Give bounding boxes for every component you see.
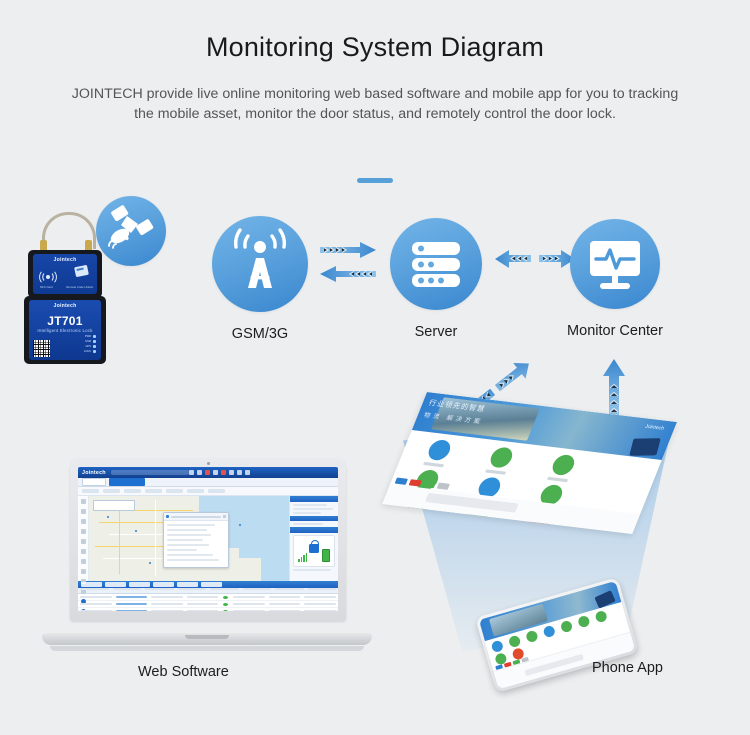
led-dot (93, 340, 96, 343)
node-label-monitor: Monitor Center (505, 323, 725, 339)
app-icon-track[interactable] (487, 446, 515, 468)
laptop-notch (185, 635, 229, 639)
table-row[interactable] (78, 594, 338, 601)
language-icon[interactable] (197, 470, 202, 475)
satellite-circle (96, 196, 166, 266)
arrow-left (320, 266, 376, 282)
led-dot (93, 335, 96, 338)
toolbar-item[interactable] (82, 489, 99, 493)
laptop-screen[interactable]: Jointech (78, 467, 338, 611)
toolbar-item[interactable] (187, 489, 204, 493)
device-upper-body: Jointech NFC Card Remote Code Unlock (28, 250, 102, 298)
device-brand-bottom: Jointech (29, 303, 101, 309)
nfc-wave-icon (39, 271, 57, 283)
device-info-panel[interactable] (289, 496, 338, 581)
table-row[interactable] (78, 608, 338, 611)
help-icon[interactable] (237, 470, 242, 475)
panel-header-status (290, 527, 338, 533)
node-monitor-center: Monitor Center (570, 219, 660, 309)
table-tab-idling[interactable] (129, 582, 150, 587)
laptop-base (42, 633, 372, 645)
toolbar-item[interactable] (103, 489, 120, 493)
server-circle (390, 218, 482, 310)
map-search-box[interactable] (93, 500, 135, 511)
node-server: Server (390, 218, 482, 310)
connector-server-to-monitor (495, 248, 575, 279)
gear-icon[interactable] (229, 470, 234, 475)
webapp-tab-bar[interactable] (78, 478, 338, 487)
device-model-subtitle: Intelligent Electronic Lock (29, 328, 101, 333)
popup-header (164, 513, 228, 521)
gsm-circle (212, 216, 308, 312)
led-label: GPS (82, 345, 91, 348)
alert-icon[interactable] (205, 470, 210, 475)
arrow-right (320, 242, 376, 258)
app-tab-all[interactable] (395, 478, 408, 485)
caption-phone-app: Phone App (592, 660, 663, 676)
tab-home[interactable] (82, 478, 106, 486)
table-tab-bar[interactable] (78, 581, 338, 588)
page-subtitle: JOINTECH provide live online monitoring … (62, 84, 688, 124)
qr-code-icon (33, 340, 50, 357)
table-tab-offline[interactable] (201, 582, 222, 587)
lock-status-box (293, 535, 335, 567)
banner-device-image (629, 438, 661, 456)
caption-web-software: Web Software (138, 664, 229, 680)
tab-realtime-tracking[interactable] (109, 478, 145, 486)
phone-app-icon[interactable] (508, 635, 522, 649)
app-grid-item[interactable] (407, 437, 469, 469)
message-icon[interactable] (213, 470, 218, 475)
arrow-left (495, 250, 531, 268)
app-tab-offline[interactable] (437, 483, 450, 490)
node-satellite (96, 196, 166, 266)
banner-brand: Jointech (644, 424, 665, 432)
padlock-icon (309, 544, 319, 553)
page-title: Monitoring System Diagram (0, 32, 750, 63)
webapp-body (78, 496, 338, 581)
cell-tower-icon (212, 216, 308, 312)
monitor-circle (570, 219, 660, 309)
webapp-toolbar[interactable] (78, 487, 338, 496)
sidebar-item-search[interactable] (81, 539, 86, 544)
sidebar-item-report[interactable] (81, 509, 86, 514)
nfc-label: NFC Card (40, 285, 53, 289)
logout-icon[interactable] (245, 470, 250, 475)
app-icon-monitor[interactable] (425, 439, 453, 461)
sidebar-item-home[interactable] (81, 499, 86, 504)
signal-bars-icon (298, 553, 307, 562)
connector-gsm-to-server (320, 238, 386, 297)
webcam-icon (207, 462, 210, 465)
led-label: LOCK (82, 350, 91, 353)
accent-divider (357, 178, 393, 183)
sidebar-item-settings[interactable] (81, 519, 86, 524)
app-tab-online[interactable] (423, 481, 436, 488)
satellite-icon (96, 196, 166, 266)
phone-app-icon[interactable] (525, 630, 539, 644)
led-label: GSM (82, 340, 91, 343)
user-icon[interactable] (189, 470, 194, 475)
panel-header-vehicle-info (290, 496, 338, 502)
device-upper-face: Jointech NFC Card Remote Code Unlock (33, 254, 97, 294)
phone-app-block: 行业领先的智慧 物流 解决方案 Jointech (395, 398, 695, 688)
app-tab-alarm[interactable] (409, 479, 422, 486)
notification-icon[interactable] (221, 470, 226, 475)
diagram-canvas: Monitoring System Diagram JOINTECH provi… (0, 0, 750, 735)
device-lower-face: Jointech JT701 Intelligent Electronic Lo… (29, 300, 101, 360)
map-info-popup[interactable] (163, 512, 229, 568)
led-dot (93, 345, 96, 348)
table-tab-running[interactable] (105, 582, 126, 587)
toolbar-item[interactable] (124, 489, 141, 493)
table-row[interactable] (78, 601, 338, 608)
webapp-header-icons[interactable] (189, 470, 250, 475)
battery-icon (322, 549, 330, 562)
map-view[interactable] (89, 496, 289, 581)
device-brand-top: Jointech (33, 257, 97, 263)
sidebar-item-alarm[interactable] (81, 529, 86, 534)
webapp-header: Jointech (78, 467, 338, 478)
app-grid-item[interactable] (531, 452, 593, 484)
led-dot (93, 350, 96, 353)
table-tab-stationary[interactable] (153, 582, 174, 587)
web-software-laptop: Jointech (42, 458, 372, 653)
laptop-lid: Jointech (70, 458, 346, 621)
laptop-foot (50, 646, 364, 651)
app-grid-item[interactable] (469, 444, 531, 476)
toolbar-item[interactable] (166, 489, 183, 493)
toolbar-item[interactable] (208, 489, 225, 493)
table-tab-all[interactable] (81, 582, 102, 587)
phone-app-icon[interactable] (560, 620, 574, 634)
app-icon-lock[interactable] (549, 454, 577, 476)
toolbar-item[interactable] (145, 489, 162, 493)
sidebar-item-lock[interactable] (81, 569, 86, 574)
webapp-url-bar[interactable] (111, 470, 189, 475)
sidebar-item-user[interactable] (81, 559, 86, 564)
status-led-group: PWR GSM GPS LOCK (82, 335, 96, 355)
table-tab-no-signal[interactable] (177, 582, 198, 587)
panel-header-trip (290, 516, 338, 521)
phone-app-icon[interactable] (577, 615, 591, 629)
sidebar-item-fleet[interactable] (81, 549, 86, 554)
device-model: JT701 (29, 314, 101, 328)
led-label: PWR (82, 335, 91, 338)
node-gsm: GSM/3G (212, 216, 308, 312)
phone-app-icon[interactable] (542, 625, 556, 639)
phone-app-icon[interactable] (594, 610, 608, 624)
remote-unlock-label: Remote Code Unlock (66, 285, 93, 289)
webapp-sidebar[interactable] (78, 496, 89, 581)
webapp-brand: Jointech (82, 470, 106, 476)
remote-card-icon (74, 265, 89, 277)
server-icon (390, 218, 482, 310)
monitor-pulse-icon (570, 219, 660, 309)
phone-app-icon[interactable] (491, 640, 505, 654)
device-table[interactable] (78, 588, 338, 611)
app-screen-content[interactable]: 行业领先的智慧 物流 解决方案 Jointech (382, 392, 677, 534)
device-lower-body: Jointech JT701 Intelligent Electronic Lo… (24, 296, 106, 364)
